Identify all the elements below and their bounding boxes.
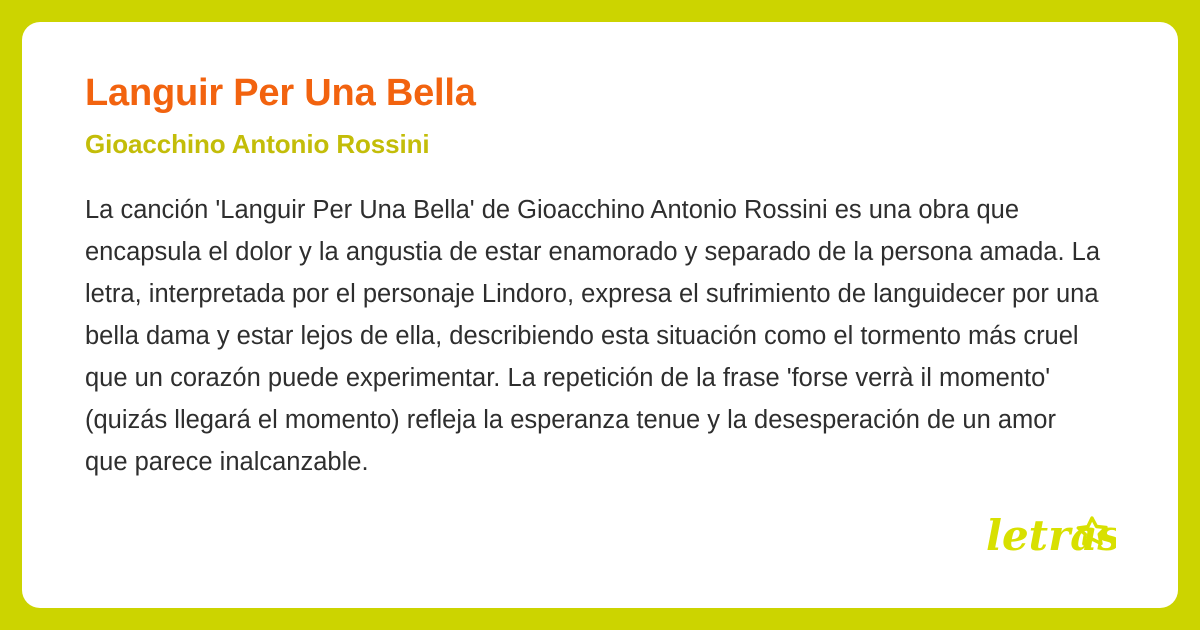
artist-name: Gioacchino Antonio Rossini (85, 131, 1116, 157)
song-info-card: Languir Per Una Bella Gioacchino Antonio… (22, 22, 1178, 608)
song-description: La canción 'Languir Per Una Bella' de Gi… (85, 189, 1103, 483)
letras-wordmark: letras (986, 511, 1116, 560)
page-title: Languir Per Una Bella (85, 74, 1116, 112)
letras-logo[interactable]: letras (986, 510, 1116, 560)
page-background: Languir Per Una Bella Gioacchino Antonio… (0, 0, 1200, 630)
